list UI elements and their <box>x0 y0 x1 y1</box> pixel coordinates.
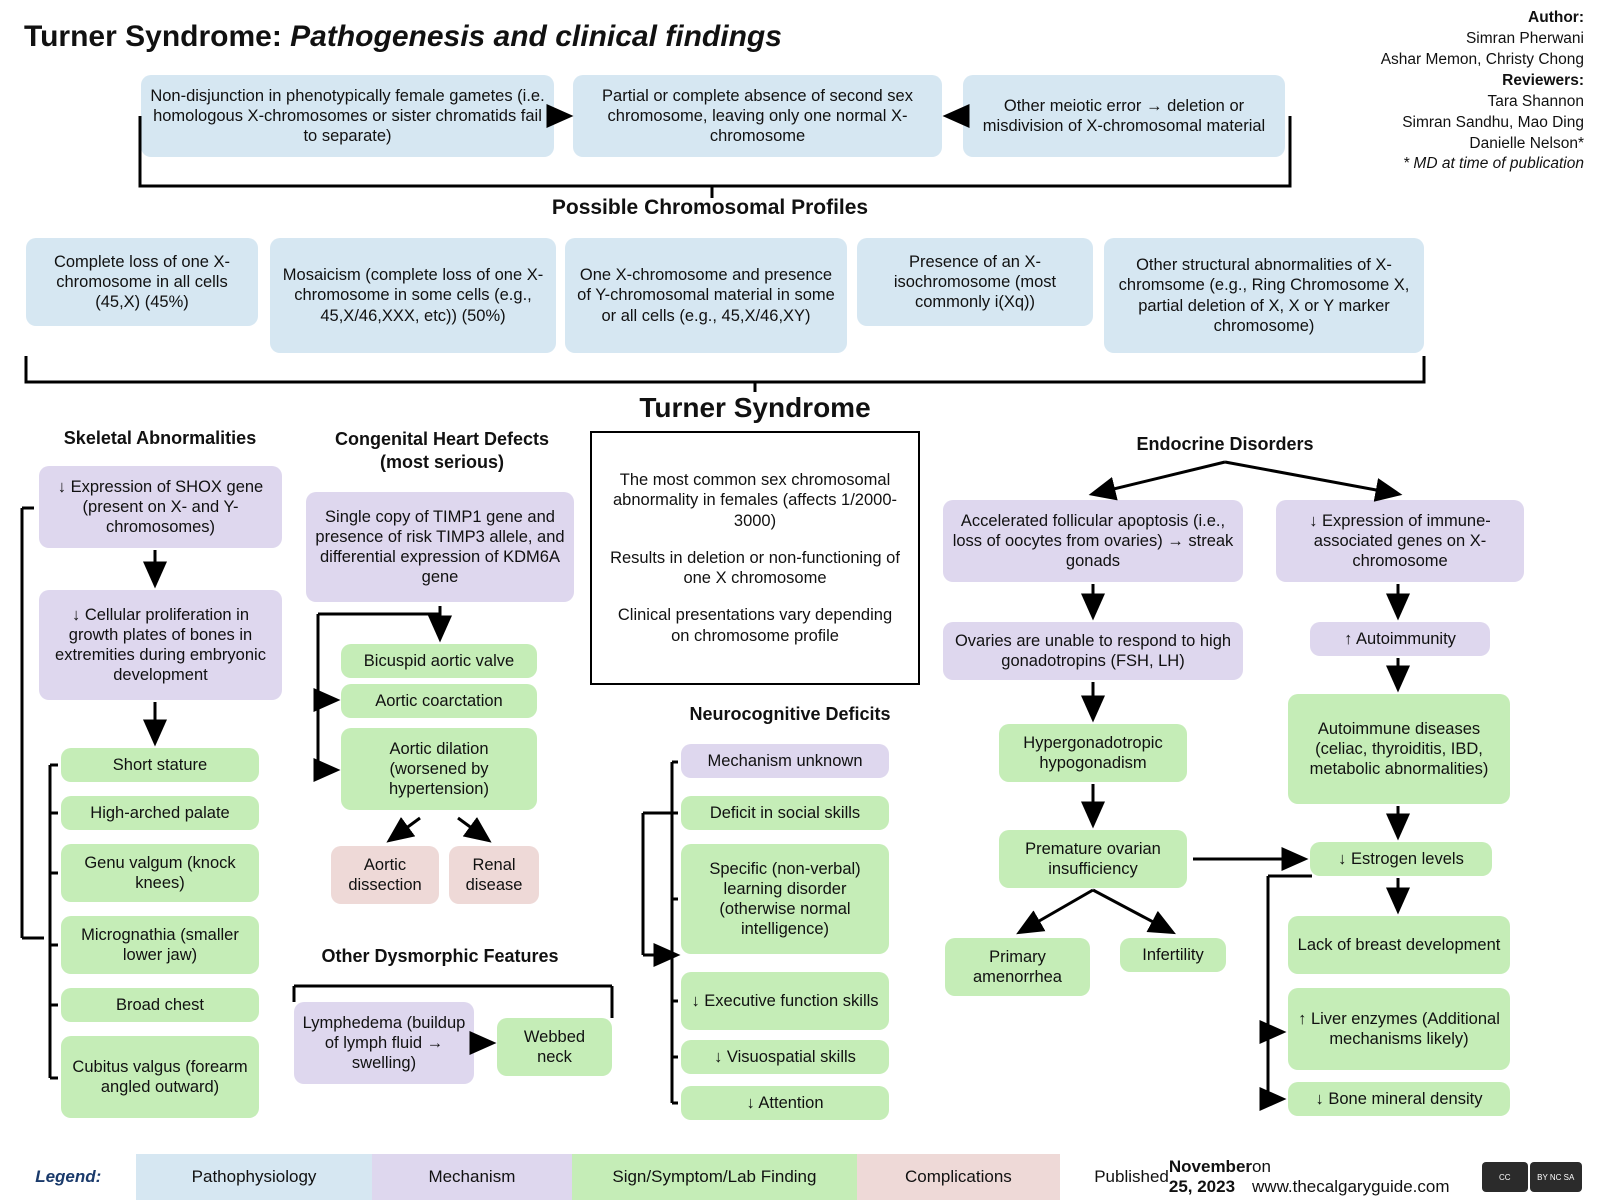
neuro-finding-executive-function: ↓ Executive function skills <box>681 972 889 1030</box>
cause-box-absence: Partial or complete absence of second se… <box>573 75 942 157</box>
skeletal-node-proliferation: ↓ Cellular proliferation in growth plate… <box>39 590 282 700</box>
author-label: Author: <box>1528 9 1584 26</box>
neuro-finding-attention: ↓ Attention <box>681 1086 889 1120</box>
profile-box-5: Other structural abnormalities of X-chro… <box>1104 238 1424 353</box>
skeletal-heading: Skeletal Abnormalities <box>40 428 280 449</box>
cc-badge-sub-text: BY NC SA <box>1537 1173 1574 1182</box>
author-2: Ashar Memon, Christy Chong <box>1164 50 1584 71</box>
published-date: November 25, 2023 <box>1169 1157 1252 1197</box>
legend-item-sign-symptom: Sign/Symptom/Lab Finding <box>572 1154 856 1200</box>
cc-badge-sub: BY NC SA <box>1530 1162 1582 1192</box>
skeletal-finding-broad-chest: Broad chest <box>61 988 259 1022</box>
endocrine-node-immune-genes: ↓ Expression of immune-associated genes … <box>1276 500 1524 582</box>
page-title: Turner Syndrome: Pathogenesis and clinic… <box>24 20 782 54</box>
endocrine-node-follicular-apoptosis: Accelerated follicular apoptosis (i.e., … <box>943 500 1243 582</box>
endocrine-heading: Endocrine Disorders <box>1085 434 1365 455</box>
profile-box-1: Complete loss of one X-chromosome in all… <box>26 238 258 326</box>
neuro-node-mechanism: Mechanism unknown <box>681 744 889 778</box>
page-title-main: Turner Syndrome: <box>24 20 282 53</box>
skeletal-finding-micrognathia: Micrognathia (smaller lower jaw) <box>61 916 259 974</box>
legend-item-mechanism: Mechanism <box>372 1154 573 1200</box>
cc-badge: CC <box>1482 1162 1528 1192</box>
cardiac-complication-dissection: Aortic dissection <box>331 846 439 904</box>
author-1: Simran Pherwani <box>1164 29 1584 50</box>
endocrine-node-ovaries-unresponsive: Ovaries are unable to respond to high go… <box>943 622 1243 680</box>
skeletal-finding-genu-valgum: Genu valgum (knock knees) <box>61 844 259 902</box>
skeletal-finding-short-stature: Short stature <box>61 748 259 782</box>
published-prefix: Published <box>1094 1167 1169 1187</box>
cause-box-meiotic-error: Other meiotic error → deletion or misdiv… <box>963 75 1285 157</box>
endocrine-node-breast-development: Lack of breast development <box>1288 916 1510 974</box>
profile-box-3: One X-chromosome and presence of Y-chrom… <box>565 238 847 353</box>
cardiac-complication-renal: Renal disease <box>449 846 539 904</box>
profiles-heading: Possible Chromosomal Profiles <box>520 196 900 220</box>
cardiac-node-timp: Single copy of TIMP1 gene and presence o… <box>306 492 574 602</box>
center-fact-2: Results in deletion or non-functioning o… <box>608 548 902 589</box>
cardiac-finding-coarctation: Aortic coarctation <box>341 684 537 718</box>
endocrine-node-estrogen-levels: ↓ Estrogen levels <box>1310 842 1492 876</box>
neuro-heading: Neurocognitive Deficits <box>660 704 920 725</box>
profile-box-4: Presence of an X- isochromosome (most co… <box>857 238 1093 326</box>
cardiac-finding-dilation: Aortic dilation (worsened by hypertensio… <box>341 728 537 810</box>
cardiac-finding-bicuspid: Bicuspid aortic valve <box>341 644 537 678</box>
neuro-finding-social-skills: Deficit in social skills <box>681 796 889 830</box>
neuro-finding-learning-disorder: Specific (non-verbal) learning disorder … <box>681 844 889 954</box>
dysmorphic-node-lymphedema: Lymphedema (buildup of lymph fluid → swe… <box>294 1002 474 1084</box>
dysmorphic-heading: Other Dysmorphic Features <box>300 946 580 967</box>
endocrine-node-infertility: Infertility <box>1120 938 1226 972</box>
neuro-finding-visuospatial: ↓ Visuospatial skills <box>681 1040 889 1074</box>
endocrine-node-autoimmunity: ↑ Autoimmunity <box>1310 622 1490 656</box>
endocrine-node-primary-amenorrhea: Primary amenorrhea <box>945 938 1090 996</box>
profile-box-2: Mosaicism (complete loss of one X-chromo… <box>270 238 556 353</box>
published-suffix: on www.thecalgaryguide.com <box>1252 1157 1449 1197</box>
endocrine-node-ovarian-insufficiency: Premature ovarian insufficiency <box>999 830 1187 888</box>
center-heading: Turner Syndrome <box>590 392 920 424</box>
endocrine-node-liver-enzymes: ↑ Liver enzymes (Additional mechanisms l… <box>1288 988 1510 1070</box>
reviewers-label: Reviewers: <box>1502 72 1584 89</box>
legend-item-complications: Complications <box>857 1154 1061 1200</box>
dysmorphic-finding-webbed-neck: Webbed neck <box>497 1018 612 1076</box>
creative-commons-icon[interactable]: CC BY NC SA <box>1464 1154 1600 1200</box>
legend-item-pathophysiology: Pathophysiology <box>136 1154 371 1200</box>
center-fact-1: The most common sex chromosomal abnormal… <box>608 470 902 532</box>
skeletal-finding-palate: High-arched palate <box>61 796 259 830</box>
center-fact-box: The most common sex chromosomal abnormal… <box>590 431 920 685</box>
skeletal-finding-cubitus-valgus: Cubitus valgus (forearm angled outward) <box>61 1036 259 1118</box>
skeletal-node-shox: ↓ Expression of SHOX gene (present on X-… <box>39 466 282 548</box>
legend-bar: Legend: Pathophysiology Mechanism Sign/S… <box>0 1154 1600 1200</box>
center-fact-3: Clinical presentations vary depending on… <box>608 605 902 646</box>
author-footnote: * MD at time of publication <box>1164 154 1584 175</box>
page-title-sub: Pathogenesis and clinical findings <box>290 20 782 53</box>
cause-box-nondisjunction: Non-disjunction in phenotypically female… <box>141 75 554 157</box>
legend-published: Published November 25, 2023 on www.theca… <box>1060 1154 1463 1200</box>
endocrine-node-bone-density: ↓ Bone mineral density <box>1288 1082 1510 1116</box>
endocrine-node-autoimmune-diseases: Autoimmune diseases (celiac, thyroiditis… <box>1288 694 1510 804</box>
endocrine-node-hypergonadotropic: Hypergonadotropic hypogonadism <box>999 724 1187 782</box>
cardiac-heading: Congenital Heart Defects (most serious) <box>308 428 576 473</box>
legend-label: Legend: <box>0 1154 136 1200</box>
cc-badge-text: CC <box>1499 1173 1511 1182</box>
